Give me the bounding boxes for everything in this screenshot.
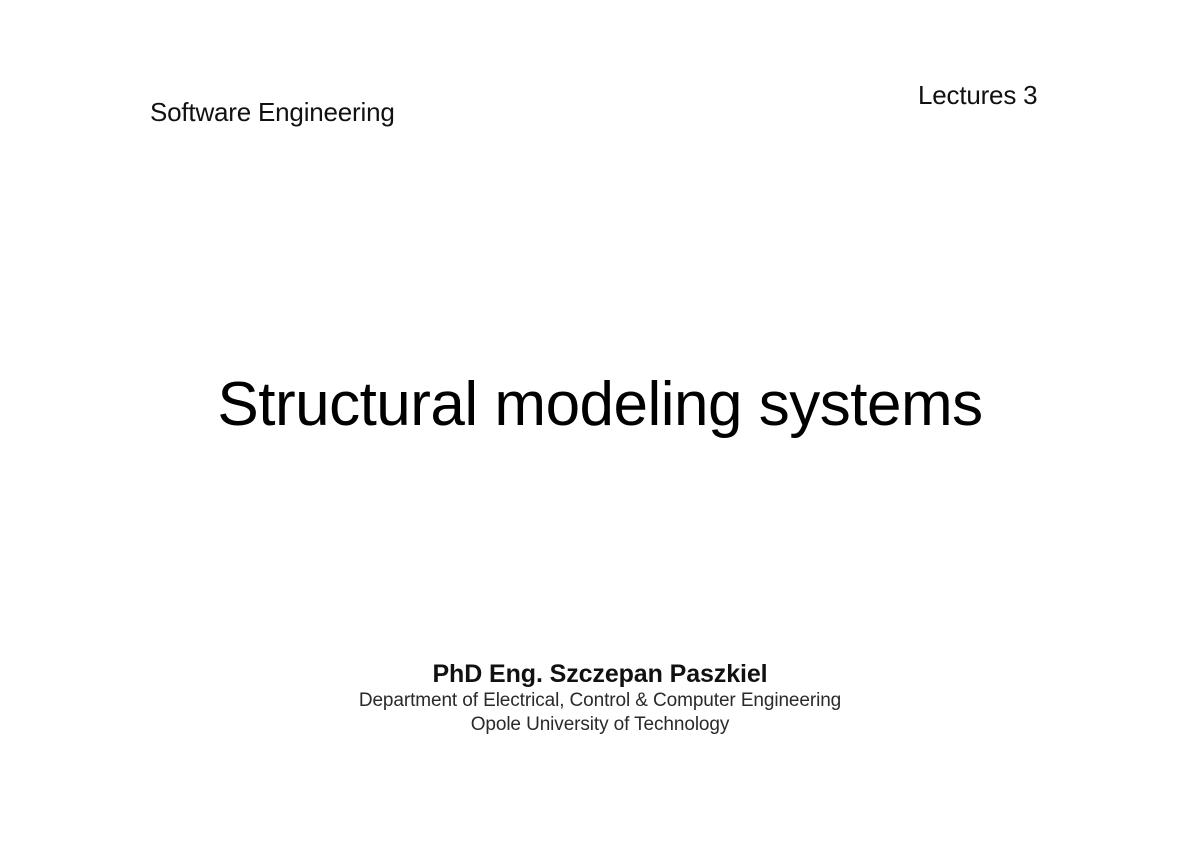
author-department: Department of Electrical, Control & Comp…	[0, 689, 1200, 713]
author-name: PhD Eng. Szczepan Paszkiel	[0, 660, 1200, 689]
slide-title: Structural modeling systems	[0, 369, 1200, 441]
course-title: Software Engineering	[150, 97, 395, 127]
lecture-number: Lectures 3	[918, 80, 1037, 110]
author-block: PhD Eng. Szczepan Paszkiel Department of…	[0, 660, 1200, 737]
presentation-slide: Software Engineering Lectures 3 Structur…	[0, 0, 1200, 848]
author-institution: Opole University of Technology	[0, 713, 1200, 737]
